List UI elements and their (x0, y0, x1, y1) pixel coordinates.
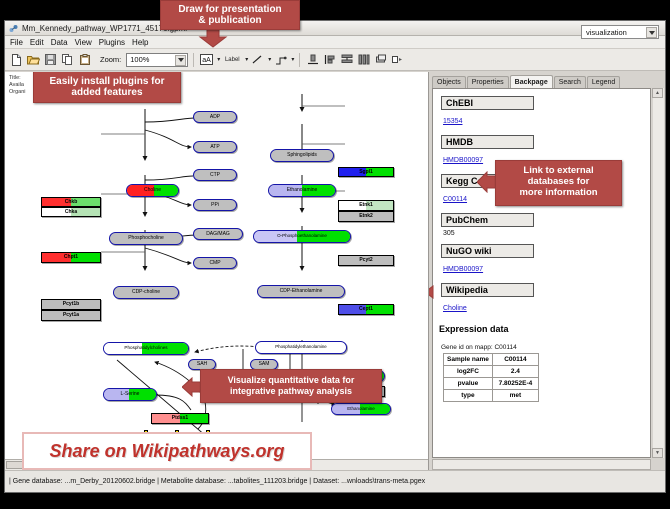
callout-draw-text: Draw for presentation& publication (178, 4, 281, 26)
hmdb-link[interactable]: HMDB00097 (443, 157, 483, 164)
toolbar-separator (193, 53, 194, 67)
section-heading-pubchem: PubChem (441, 213, 534, 227)
metabolite-node-cdp-ethanolamine[interactable]: CDP-Ethanolamine (257, 285, 345, 298)
tab-search[interactable]: Search (554, 76, 586, 88)
side-panel-vertical-scrollbar[interactable]: ▲ ▼ (653, 88, 664, 458)
node-label: DAG/MAG (206, 232, 230, 237)
group-icon[interactable] (373, 52, 388, 67)
save-icon[interactable] (43, 52, 58, 67)
connector-icon[interactable] (273, 52, 288, 67)
gene-node-etnk1[interactable]: Etnk1 (338, 200, 394, 211)
node-label: CDP-choline (132, 290, 160, 295)
gene-node-chkb[interactable]: Chkb (41, 197, 101, 207)
zoom-label: Zoom: (100, 55, 121, 64)
callout-plugins: Easily install plugins foradded features (33, 72, 181, 103)
tab-label: Search (559, 79, 581, 86)
pathvisio-window: Mm_Kennedy_pathway_WP1771_45176.gpml Fil… (4, 20, 666, 493)
node-label: Pcyt2 (359, 258, 372, 263)
metabolite-node-l-serine-left[interactable]: L-Serine (103, 388, 157, 401)
node-label: ATP (210, 145, 219, 150)
node-label: Chka (65, 210, 77, 215)
new-file-icon[interactable] (9, 52, 24, 67)
metabolite-node-cmp[interactable]: CMP (193, 257, 237, 269)
label-button[interactable]: Label (222, 52, 242, 67)
callout-draw-arrow-icon (198, 28, 228, 53)
expr-key: pvalue (444, 378, 493, 390)
table-row: pvalue 7.80252E-4 (444, 378, 539, 390)
connector-dropdown-icon[interactable]: ▾ (291, 56, 294, 63)
expr-key: type (444, 390, 493, 402)
side-panel: Objects Properties Backpage Search Legen… (429, 72, 665, 470)
callout-external-db: Link to externaldatabases formore inform… (495, 160, 622, 206)
section-heading-wikipedia: Wikipedia (441, 283, 534, 297)
kegg-link[interactable]: C00114 (443, 196, 467, 203)
callout-external-db-arrow-icon (477, 171, 497, 198)
label-dropdown-icon[interactable]: ▾ (245, 56, 248, 63)
callout-visualize: Visualize quantitative data forintegrati… (200, 369, 382, 403)
table-row: log2FC 2.4 (444, 366, 539, 378)
section-heading-nugo: NuGO wiki (441, 244, 534, 258)
expr-value: C00114 (492, 354, 538, 366)
tab-label: Legend (592, 79, 615, 86)
toolbar-separator-2 (299, 53, 300, 67)
window-title-bar: Mm_Kennedy_pathway_WP1771_45176.gpml (5, 21, 665, 36)
copy-icon[interactable] (60, 52, 75, 67)
gene-node-pcyt2[interactable]: Pcyt2 (338, 255, 394, 266)
tab-label: Properties (472, 79, 504, 86)
gene-node-cept1[interactable]: Cept1 (338, 304, 394, 315)
node-label: SAM (259, 362, 270, 367)
wikipedia-link[interactable]: Choline (443, 305, 467, 312)
gene-node-pcyt1a[interactable]: Pcyt1a (41, 310, 101, 321)
gene-node-etnk2[interactable]: Etnk2 (338, 211, 394, 222)
chevron-down-icon[interactable] (175, 55, 186, 66)
side-panel-horizontal-scrollbar[interactable] (432, 459, 651, 470)
menu-item-data[interactable]: Data (51, 38, 68, 47)
workspace: Title: Availa Organi (5, 72, 665, 470)
node-label: Pcyt1a (63, 313, 79, 318)
expr-key: log2FC (444, 366, 493, 378)
gene-node-pcyt1b[interactable]: Pcyt1b (41, 299, 101, 310)
pathway-canvas[interactable]: Title: Availa Organi (5, 72, 429, 470)
line-dropdown-icon[interactable]: ▾ (268, 56, 271, 63)
node-label: Choline (144, 188, 161, 193)
menu-item-view[interactable]: View (75, 38, 92, 47)
menu-item-file[interactable]: File (10, 38, 23, 47)
font-button[interactable]: aA (199, 52, 214, 67)
label-button-text: Label (225, 57, 240, 63)
node-label: PPi (211, 203, 219, 208)
metabolite-node-adp[interactable]: ADP (193, 111, 237, 123)
node-label: Ethanolamine (347, 407, 375, 412)
callout-visualize-text: Visualize quantitative data forintegrati… (228, 375, 355, 396)
node-label: Ethanolamine (287, 188, 318, 193)
section-heading-text: ChEBI (446, 98, 473, 108)
node-label: SAH (197, 362, 207, 367)
callout-visualize-arrow-icon (182, 377, 202, 402)
svg-text:aA: aA (202, 57, 211, 64)
metabolite-node-choline-top[interactable]: Choline (126, 184, 179, 197)
metabolite-node-sphingolipids[interactable]: Sphingolipids (270, 149, 334, 162)
metabolite-node-phosphocholine[interactable]: Phosphocholine (109, 232, 183, 245)
node-label: Pcyt1b (63, 302, 79, 307)
node-label: Phosphatidylethanolamine (275, 345, 327, 349)
scroll-down-icon[interactable]: ▼ (652, 448, 663, 458)
distribute-horizontal-icon[interactable] (356, 52, 371, 67)
expr-value: 7.80252E-4 (492, 378, 538, 390)
nugo-link[interactable]: HMDB00097 (443, 266, 483, 273)
paste-icon[interactable] (77, 52, 92, 67)
tab-backpage[interactable]: Backpage (510, 75, 553, 88)
expression-data-title: Expression data (439, 324, 650, 334)
expression-table: Sample name C00114 log2FC 2.4 pvalue 7.8… (443, 353, 539, 402)
node-label: CTP (210, 173, 220, 178)
metabolite-node-cdp-choline[interactable]: CDP-choline (113, 286, 179, 299)
menu-item-help[interactable]: Help (132, 38, 148, 47)
gene-node-ptdss1[interactable]: Ptdss1 (151, 413, 209, 424)
open-folder-icon[interactable] (26, 52, 41, 67)
menu-bar: File Edit Data View Plugins Help (5, 36, 665, 49)
node-label: Cept1 (359, 307, 373, 312)
gene-node-chpt1[interactable]: Chpt1 (41, 252, 101, 263)
metabolite-node-ethanolamine-bottom[interactable]: Ethanolamine (331, 403, 391, 415)
gene-id-on-mapp: Gene id on mapp: C00114 (441, 344, 650, 351)
toolbar: Zoom: 100% aA ▾ Label ▾ ▾ ▾ (5, 49, 665, 71)
table-row: type met (444, 390, 539, 402)
callout-plugins-text: Easily install plugins foradded features (49, 76, 164, 98)
metabolite-node-dagmag[interactable]: DAG/MAG (193, 228, 243, 240)
section-heading-text: PubChem (446, 215, 488, 225)
tab-objects[interactable]: Objects (432, 76, 466, 88)
node-label: Phosphocholine (128, 236, 164, 241)
section-heading-text: HMDB (446, 137, 473, 147)
tab-label: Objects (437, 79, 461, 86)
callout-draw: Draw for presentation& publication (160, 0, 300, 30)
node-label: ADP (210, 115, 220, 120)
node-label: Sgpl1 (359, 170, 373, 175)
node-label: Ptdss1 (172, 416, 188, 421)
order-icon[interactable] (390, 52, 405, 67)
align-bottom-icon[interactable] (305, 52, 320, 67)
distribute-vertical-icon[interactable] (339, 52, 354, 67)
node-label: L-Serine (121, 392, 140, 397)
metabolite-node-phosphatidylethanolamine[interactable]: Phosphatidylethanolamine (255, 341, 347, 354)
node-label: Phosphatidylcholines (124, 346, 167, 351)
callout-external-db-text: Link to externaldatabases formore inform… (519, 165, 597, 198)
section-heading-text: NuGO wiki (446, 246, 492, 256)
share-banner: Share on Wikipathways.org (22, 432, 312, 470)
section-heading-text: Wikipedia (446, 285, 488, 295)
tab-label: Backpage (515, 79, 548, 86)
metabolite-node-ctp[interactable]: CTP (193, 169, 237, 181)
node-label: Etnk2 (359, 214, 373, 219)
menu-item-plugins[interactable]: Plugins (99, 38, 125, 47)
section-heading-chebi: ChEBI (441, 96, 534, 110)
line-icon[interactable] (250, 52, 265, 67)
font-dropdown-icon[interactable]: ▾ (217, 56, 220, 63)
side-panel-tabs: Objects Properties Backpage Search Legen… (432, 75, 665, 88)
node-label: Etnk1 (359, 203, 373, 208)
node-label: Chpt1 (64, 255, 78, 260)
node-label: CDP-Ethanolamine (280, 289, 323, 294)
node-label: Chkb (65, 200, 78, 205)
gene-node-chka[interactable]: Chka (41, 207, 101, 217)
expr-value: 2.4 (492, 366, 538, 378)
backpage-content: ChEBI 15354 HMDB HMDB00097 Kegg Compound… (432, 88, 651, 458)
metabolite-node-ppi[interactable]: PPi (193, 199, 237, 211)
metabolite-node-phosphatidylcholines[interactable]: Phosphatidylcholines (103, 342, 189, 355)
node-label: CMP (209, 261, 220, 266)
callout-expression-arrow-icon (429, 285, 439, 304)
zoom-combobox[interactable]: 100% (126, 53, 188, 67)
tab-properties[interactable]: Properties (467, 76, 509, 88)
gene-node-sgpl1[interactable]: Sgpl1 (338, 167, 394, 177)
menu-item-edit[interactable]: Edit (30, 38, 44, 47)
node-label: O-Phosphoethanolamine (277, 234, 327, 239)
scroll-up-icon[interactable]: ▲ (652, 88, 663, 98)
status-bar-text: | Gene database: ...m_Derby_20120602.bri… (9, 478, 425, 485)
zoom-value: 100% (130, 55, 149, 64)
visualization-select[interactable]: visualization (581, 25, 659, 39)
node-label: Sphingolipids (287, 153, 317, 158)
visualization-select-value: visualization (586, 28, 627, 37)
metabolite-node-atp[interactable]: ATP (193, 141, 237, 153)
pubchem-value: 305 (443, 230, 650, 237)
align-left-icon[interactable] (322, 52, 337, 67)
tab-legend[interactable]: Legend (587, 76, 620, 88)
status-bar: | Gene database: ...m_Derby_20120602.bri… (5, 470, 665, 492)
chebi-link[interactable]: 15354 (443, 118, 462, 125)
share-banner-text: Share on Wikipathways.org (50, 441, 285, 462)
pathvisio-app-icon (9, 24, 18, 33)
expr-key: Sample name (444, 354, 493, 366)
table-row: Sample name C00114 (444, 354, 539, 366)
metabolite-node-ethanolamine-top[interactable]: Ethanolamine (268, 184, 336, 197)
section-heading-hmdb: HMDB (441, 135, 534, 149)
expr-value: met (492, 390, 538, 402)
chevron-down-icon-viz[interactable] (646, 27, 657, 38)
metabolite-node-o-phosphoethanolamine[interactable]: O-Phosphoethanolamine (253, 230, 351, 243)
